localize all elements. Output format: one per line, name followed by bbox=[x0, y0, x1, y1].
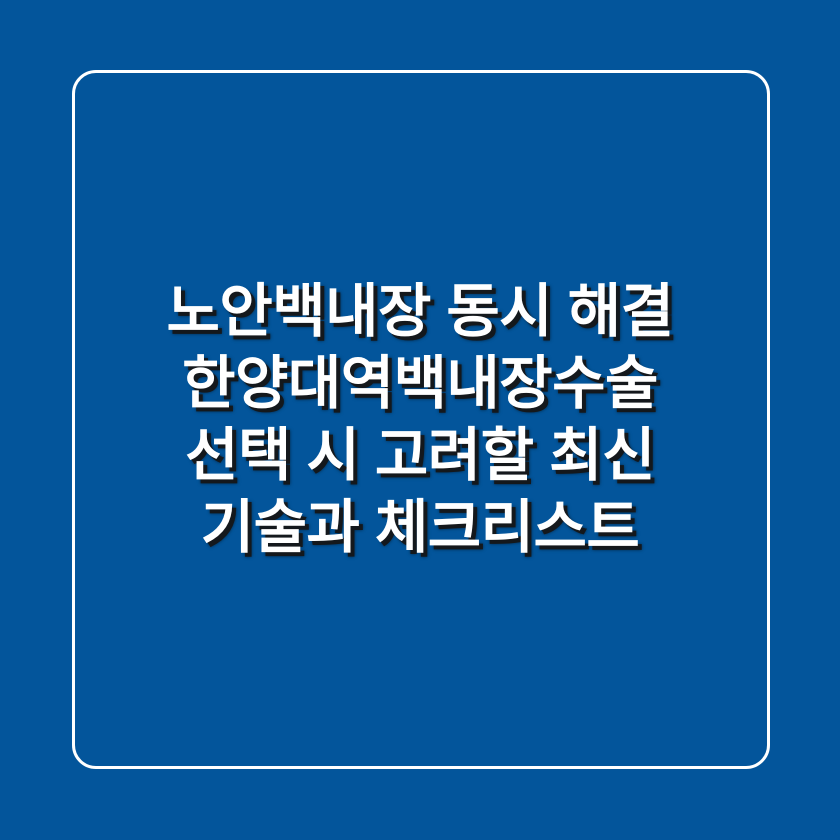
headline-block: 노안백내장 동시 해결 한양대역백내장수술 선택 시 고려할 최신 기술과 체크… bbox=[0, 0, 840, 840]
thumbnail-card: 노안백내장 동시 해결 한양대역백내장수술 선택 시 고려할 최신 기술과 체크… bbox=[0, 0, 840, 840]
headline-line-3: 선택 시 고려할 최신 bbox=[78, 420, 762, 492]
headline-line-1: 노안백내장 동시 해결 bbox=[78, 276, 762, 348]
headline-line-4: 기술과 체크리스트 bbox=[78, 492, 762, 564]
headline-line-2: 한양대역백내장수술 bbox=[78, 348, 762, 420]
